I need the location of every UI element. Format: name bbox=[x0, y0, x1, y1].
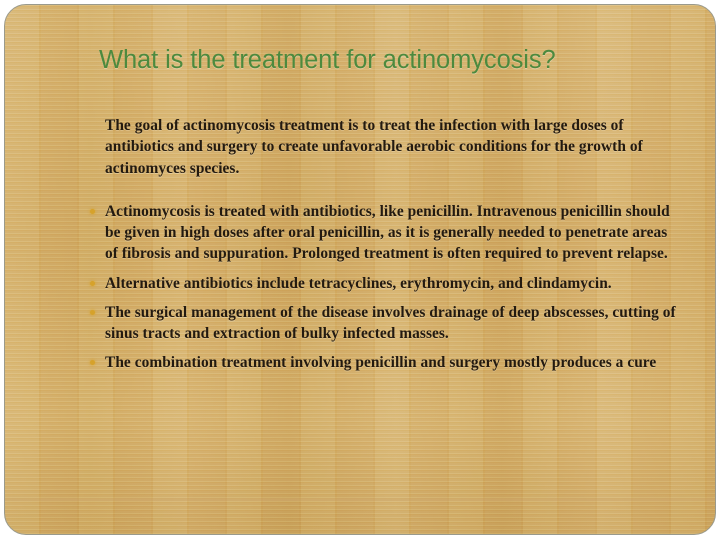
list-item: Alternative antibiotics include tetracyc… bbox=[83, 273, 683, 294]
list-item: The combination treatment involving peni… bbox=[83, 352, 683, 373]
list-item: The surgical management of the disease i… bbox=[83, 302, 683, 345]
slide-canvas: What is the treatment for actinomycosis?… bbox=[4, 4, 716, 535]
list-item-text: Actinomycosis is treated with antibiotic… bbox=[105, 203, 670, 263]
bullet-list: Actinomycosis is treated with antibiotic… bbox=[83, 201, 683, 374]
slide-body: The goal of actinomycosis treatment is t… bbox=[83, 115, 683, 374]
bullet-dot-icon bbox=[90, 209, 95, 214]
page-title: What is the treatment for actinomycosis? bbox=[99, 46, 679, 75]
intro-paragraph: The goal of actinomycosis treatment is t… bbox=[105, 115, 671, 179]
bullet-dot-icon bbox=[90, 281, 95, 286]
bullet-dot-icon bbox=[90, 310, 95, 315]
list-item-text: The surgical management of the disease i… bbox=[105, 304, 676, 342]
bullet-dot-icon bbox=[90, 360, 95, 365]
list-item-text: The combination treatment involving peni… bbox=[105, 354, 656, 371]
list-item-text: Alternative antibiotics include tetracyc… bbox=[105, 275, 612, 292]
list-item: Actinomycosis is treated with antibiotic… bbox=[83, 201, 683, 265]
